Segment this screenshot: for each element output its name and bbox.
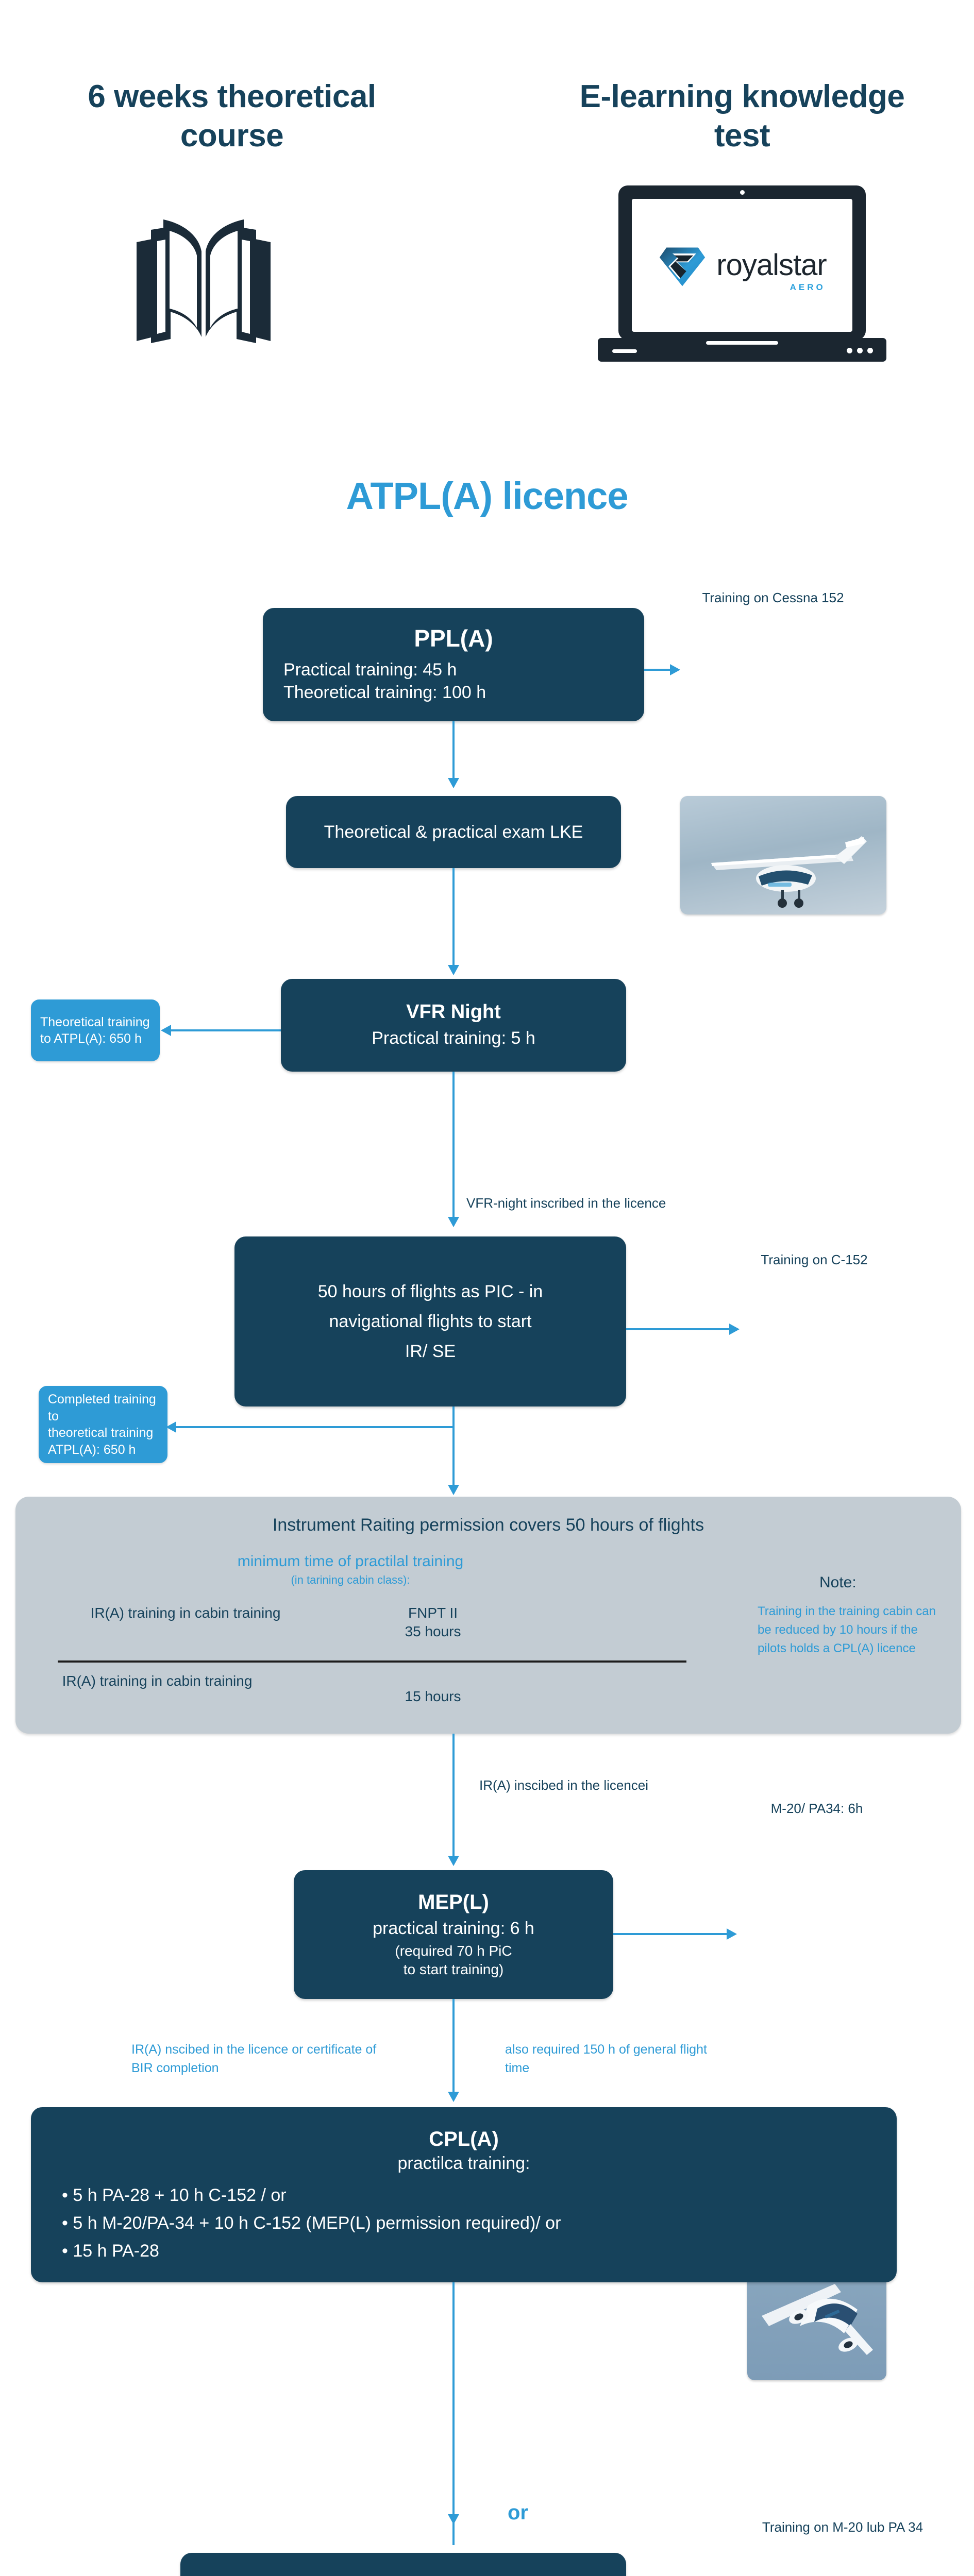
photo-caption-c152: Training on C-152 — [721, 1252, 907, 1268]
bullet-text-3: 15 h PA-28 — [73, 2241, 159, 2261]
node-cpl-a[interactable]: CPL(A) practilca training: • 5 h PA-28 +… — [31, 2107, 897, 2282]
panel-subheading: minimum time of practilal training — [15, 1553, 685, 1570]
photo-caption-m20-lub-pa34: Training on M-20 lub PA 34 — [719, 2519, 966, 2535]
node-mep-l[interactable]: MEP(L) practical training: 6 h (required… — [294, 1870, 613, 1999]
table-cell-label-1: IR(A) training in cabin training — [72, 1604, 299, 1622]
bullet-dot: • — [62, 2241, 73, 2261]
node-50-hours-pic[interactable]: 50 hours of flights as PIC - in navigati… — [234, 1236, 626, 1406]
photo-cessna-152 — [680, 796, 886, 914]
laptop-camera-icon — [740, 190, 745, 195]
node-exam-lke[interactable]: Theoretical & practical exam LKE — [286, 796, 621, 868]
bullet-text-2: 5 h M-20/PA-34 + 10 h C-152 (MEP(L) perm… — [73, 2213, 561, 2233]
node-ppl-a[interactable]: PPL(A) Practical training: 45 h Theoreti… — [263, 608, 644, 721]
table-row: IR(A) training in cabin training — [59, 1672, 255, 1690]
table-row: IR(A) training in cabin training — [72, 1604, 299, 1622]
arrowhead-ppl-to-exam — [448, 778, 459, 788]
node-cpl-bullet-2: • 5 h M-20/PA-34 + 10 h C-152 (MEP(L) pe… — [62, 2212, 866, 2234]
node-exam-title: Theoretical & practical exam LKE — [301, 821, 606, 843]
chip-completed-line1: Completed training to — [48, 1391, 158, 1425]
connector-pic-to-photo — [626, 1328, 732, 1330]
chip-theory-line2: to ATPL(A): 650 h — [40, 1030, 150, 1047]
laptop-lid: royalstar AERO — [618, 185, 866, 340]
arrowhead-mep-to-photo — [727, 1928, 737, 1940]
arrowhead-mep-to-cpl — [448, 2092, 459, 2102]
panel-subheading-2: (in tarining cabin class): — [15, 1573, 685, 1587]
connector-cpl-to-irmulti — [452, 2282, 455, 2545]
open-book-icon — [126, 201, 281, 355]
chip-theory-line1: Theoretical training — [40, 1014, 150, 1031]
annotation-or: or — [508, 2501, 528, 2524]
node-mep-line3: to start training) — [309, 1960, 598, 1979]
node-cpl-bullet-1: • 5 h PA-28 + 10 h C-152 / or — [62, 2184, 866, 2207]
arrowhead-chip-theory — [161, 1025, 171, 1036]
node-ir-multi-engine[interactable]: IR(A) on multiple engine aircraft Practi… — [180, 2553, 626, 2576]
connector-ppl-to-photo — [644, 669, 673, 671]
node-pic-line1: 50 hours of flights as PIC - in — [255, 1280, 606, 1303]
connector-mep-to-cpl — [452, 1999, 455, 2097]
chip-completed-line3: ATPL(A): 650 h — [48, 1442, 158, 1459]
laptop-indicator-dots — [847, 348, 873, 353]
node-ppl-title: PPL(A) — [283, 625, 624, 652]
chip-completed-training[interactable]: Completed training to theoretical traini… — [39, 1386, 167, 1463]
table-divider — [58, 1660, 686, 1663]
connector-vfr-to-pic — [452, 1072, 455, 1221]
node-pic-line3: IR/ SE — [255, 1340, 606, 1363]
bullet-dot: • — [62, 2185, 73, 2205]
royalstar-diamond-icon — [658, 241, 707, 290]
connector-mep-to-photo — [613, 1933, 729, 1935]
photo-caption-cessna152: Training on Cessna 152 — [665, 590, 881, 606]
panel-note-text: Training in the training cabin can be re… — [758, 1602, 948, 1658]
connector-exam-to-vfr — [452, 868, 455, 969]
table-cell-device-1: FNPT II — [356, 1604, 510, 1622]
annotation-ir-or-bir: IR(A) nscibed in the licence or certific… — [131, 2040, 399, 2078]
arrowhead-pic-to-panel — [448, 1485, 459, 1495]
node-mep-title: MEP(L) — [309, 1890, 598, 1914]
arrowhead-exam-to-vfr — [448, 965, 459, 975]
infographic-canvas: 6 weeks theoretical course E-learning kn… — [0, 0, 974, 2576]
connector-to-chip-completed — [175, 1426, 452, 1428]
arrowhead-panel-to-mep — [448, 1856, 459, 1866]
royalstar-aero-label: AERO — [790, 283, 826, 292]
connector-panel-to-mep — [452, 1734, 455, 1860]
laptop-trackpad — [706, 341, 778, 345]
node-ppl-line2: Theoretical training: 100 h — [283, 681, 624, 704]
arrowhead-chip-completed — [166, 1421, 176, 1433]
connector-ppl-to-exam — [452, 721, 455, 781]
node-pic-line2: navigational flights to start — [255, 1310, 606, 1333]
node-cpl-subtitle: practilca training: — [62, 2152, 866, 2175]
table-cell-hours-1: 35 hours — [356, 1622, 510, 1641]
laptop-screen: royalstar AERO — [632, 199, 852, 332]
chip-theoretical-training-atpl[interactable]: Theoretical training to ATPL(A): 650 h — [31, 999, 160, 1061]
node-vfr-line1: Practical training: 5 h — [296, 1027, 611, 1049]
arrowhead-vfr-to-pic — [448, 1217, 459, 1227]
bullet-dot: • — [62, 2213, 73, 2233]
node-mep-line2: (required 70 h PiC — [309, 1942, 598, 1960]
arrowhead-ppl-to-photo — [670, 664, 680, 675]
node-vfr-title: VFR Night — [296, 1001, 611, 1024]
node-cpl-title: CPL(A) — [62, 2127, 866, 2151]
bullet-text-1: 5 h PA-28 + 10 h C-152 / or — [73, 2185, 286, 2205]
left-heading: 6 weeks theoretical course — [52, 77, 412, 155]
annotation-ir-inscribed: IR(A) inscibed in the licencei — [479, 1777, 799, 1793]
node-ppl-line1: Practical training: 45 h — [283, 658, 624, 681]
annotation-150h-general: also required 150 h of general flight ti… — [505, 2040, 711, 2078]
chip-completed-line2: theoretical training — [48, 1425, 158, 1442]
arrowhead-pic-to-photo — [729, 1324, 740, 1335]
connector-pic-down — [452, 1406, 455, 1489]
laptop-icon: royalstar AERO — [598, 185, 886, 371]
royalstar-wordmark: royalstar AERO — [716, 250, 826, 280]
panel-note-label: Note: — [819, 1574, 857, 1591]
arrowhead-cpl-to-irmulti — [448, 2514, 459, 2524]
photo-caption-m20-pa34: M-20/ PA34: 6h — [724, 1801, 910, 1817]
table-cell-label-2: IR(A) training in cabin training — [59, 1672, 255, 1690]
panel-instrument-rating: Instrument Raiting permission covers 50 … — [15, 1497, 961, 1734]
node-cpl-bullet-3: • 15 h PA-28 — [62, 2240, 866, 2262]
laptop-base-detail — [612, 349, 637, 353]
node-vfr-night[interactable]: VFR Night Practical training: 5 h — [281, 979, 626, 1072]
annotation-vfr-night-inscribed: VFR-night inscribed in the licence — [466, 1195, 776, 1211]
page-title: ATPL(A) licence — [204, 474, 770, 518]
node-mep-line1: practical training: 6 h — [309, 1917, 598, 1940]
table-cell-hours-2: 15 hours — [356, 1687, 510, 1706]
royalstar-logo: royalstar AERO — [658, 241, 826, 290]
table-cell-value-1: FNPT II 35 hours — [356, 1604, 510, 1641]
panel-heading: Instrument Raiting permission covers 50 … — [15, 1515, 961, 1535]
right-heading: E-learning knowledge test — [562, 77, 922, 155]
table-cell-value-2: 15 hours — [356, 1687, 510, 1706]
